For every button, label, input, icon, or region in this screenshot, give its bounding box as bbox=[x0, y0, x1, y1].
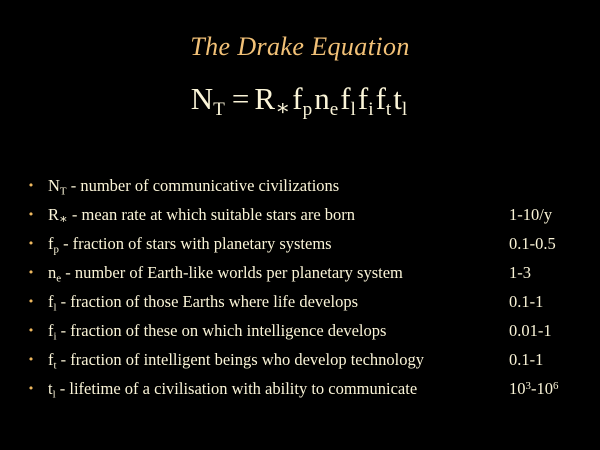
list-item-value: 0.1-0.5 bbox=[509, 229, 556, 258]
list-item-description: - fraction of those Earths where life de… bbox=[57, 292, 358, 311]
bullet-marker-icon: • bbox=[25, 374, 37, 403]
list-item-description: - fraction of these on which intelligenc… bbox=[57, 321, 387, 340]
equation-factor-tl-base: t bbox=[393, 81, 402, 116]
value-exponent-2: 6 bbox=[553, 380, 558, 392]
equation-factor-r: R∗ bbox=[254, 81, 290, 116]
equation-lhs-base: N bbox=[191, 81, 213, 116]
equation-factor-ft-base: f bbox=[376, 81, 386, 116]
list-item-symbol: ft bbox=[48, 350, 57, 369]
equation-factor-ne-subscript: e bbox=[330, 99, 339, 120]
equation-factor-fl-base: f bbox=[340, 81, 350, 116]
equation-factor-fl-subscript: l bbox=[351, 99, 356, 120]
equation-factor-fi: fi bbox=[358, 81, 374, 116]
slide-canvas: The Drake Equation NT=R∗fpneflfifttl • N… bbox=[0, 0, 600, 450]
list-item-symbol: fi bbox=[48, 321, 57, 340]
bullet-marker-icon: • bbox=[25, 316, 37, 345]
equation-lhs: NT bbox=[191, 81, 225, 116]
list-item-description: - number of communicative civilizations bbox=[67, 176, 340, 195]
bullet-marker-icon: • bbox=[25, 200, 37, 229]
list-item: • R∗ - mean rate at which suitable stars… bbox=[0, 200, 600, 229]
list-item-text: fp - fraction of stars with planetary sy… bbox=[48, 229, 332, 258]
equation-factor-tl: tl bbox=[393, 81, 407, 116]
equation-factor-fp-base: f bbox=[292, 81, 302, 116]
list-item-text: fl - fraction of those Earths where life… bbox=[48, 287, 358, 316]
equation-lhs-subscript: T bbox=[213, 99, 225, 120]
list-item-description: - mean rate at which suitable stars are … bbox=[68, 205, 355, 224]
list-item-description: - fraction of intelligent beings who dev… bbox=[57, 350, 425, 369]
bullet-marker-icon: • bbox=[25, 171, 37, 200]
list-item-value: 0.1-1 bbox=[509, 345, 543, 374]
page-title: The Drake Equation bbox=[0, 32, 600, 62]
list-item: • tl - lifetime of a civilisation with a… bbox=[0, 374, 600, 403]
equation-factor-fp-subscript: p bbox=[303, 99, 313, 120]
list-item-text: ft - fraction of intelligent beings who … bbox=[48, 345, 424, 374]
value-mantissa-1: 10 bbox=[509, 379, 526, 398]
list-item-value: 1-3 bbox=[509, 258, 531, 287]
list-item: • ft - fraction of intelligent beings wh… bbox=[0, 345, 600, 374]
list-item-symbol-base: N bbox=[48, 176, 60, 195]
value-mantissa-2: 10 bbox=[536, 379, 553, 398]
list-item-symbol-subscript: ∗ bbox=[59, 212, 68, 226]
equation-factor-ne: ne bbox=[314, 81, 338, 116]
equation-factor-fl: fl bbox=[340, 81, 356, 116]
list-item-symbol: tl bbox=[48, 379, 56, 398]
list-item-value: 0.01-1 bbox=[509, 316, 552, 345]
list-item-symbol: R∗ bbox=[48, 205, 68, 224]
equation-factor-ft-subscript: t bbox=[386, 99, 391, 120]
list-item-text: ne - number of Earth-like worlds per pla… bbox=[48, 258, 403, 287]
equation-factor-ne-base: n bbox=[314, 81, 330, 116]
bullet-marker-icon: • bbox=[25, 287, 37, 316]
list-item-symbol: NT bbox=[48, 176, 67, 195]
drake-equation: NT=R∗fpneflfifttl bbox=[0, 79, 600, 119]
bullet-marker-icon: • bbox=[25, 229, 37, 258]
equation-factor-ft: ft bbox=[376, 81, 392, 116]
list-item-text: tl - lifetime of a civilisation with abi… bbox=[48, 374, 417, 403]
equation-operator: = bbox=[232, 81, 249, 116]
list-item-description: - lifetime of a civilisation with abilit… bbox=[56, 379, 418, 398]
list-item-symbol-subscript: T bbox=[60, 185, 67, 197]
list-item: • fi - fraction of these on which intell… bbox=[0, 316, 600, 345]
bullet-marker-icon: • bbox=[25, 345, 37, 374]
list-item-description: - fraction of stars with planetary syste… bbox=[59, 234, 332, 253]
list-item-text: R∗ - mean rate at which suitable stars a… bbox=[48, 200, 355, 229]
equation-factor-r-subscript: ∗ bbox=[275, 95, 290, 120]
equation-factor-tl-subscript: l bbox=[402, 99, 407, 120]
parameter-list: • NT - number of communicative civilizat… bbox=[0, 171, 600, 403]
list-item: • NT - number of communicative civilizat… bbox=[0, 171, 600, 200]
list-item-text: NT - number of communicative civilizatio… bbox=[48, 171, 339, 200]
list-item-symbol-base: n bbox=[48, 263, 56, 282]
list-item-description: - number of Earth-like worlds per planet… bbox=[61, 263, 403, 282]
list-item-symbol: fl bbox=[48, 292, 57, 311]
bullet-marker-icon: • bbox=[25, 258, 37, 287]
equation-factor-fp: fp bbox=[292, 81, 312, 116]
list-item: • fl - fraction of those Earths where li… bbox=[0, 287, 600, 316]
list-item: • fp - fraction of stars with planetary … bbox=[0, 229, 600, 258]
list-item-symbol-base: R bbox=[48, 205, 59, 224]
list-item: • ne - number of Earth-like worlds per p… bbox=[0, 258, 600, 287]
list-item-symbol: fp bbox=[48, 234, 59, 253]
list-item-value: 1-10/y bbox=[509, 200, 552, 229]
equation-factor-fi-subscript: i bbox=[368, 99, 373, 120]
list-item-symbol: ne bbox=[48, 263, 61, 282]
list-item-value: 0.1-1 bbox=[509, 287, 543, 316]
equation-factor-r-base: R bbox=[254, 81, 275, 116]
list-item-value: 103-106 bbox=[509, 374, 558, 403]
list-item-text: fi - fraction of these on which intellig… bbox=[48, 316, 386, 345]
equation-factor-fi-base: f bbox=[358, 81, 368, 116]
